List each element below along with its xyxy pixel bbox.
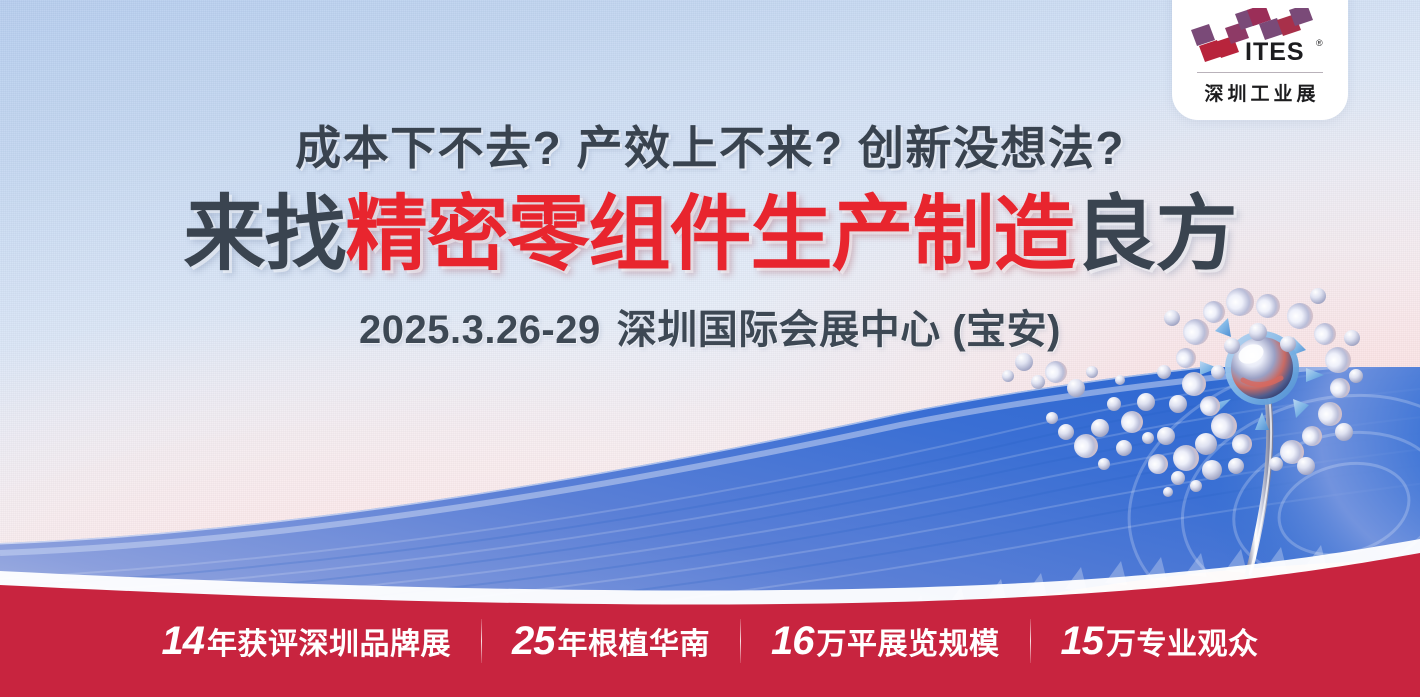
stat-item: 15 万专业观众 — [1031, 621, 1289, 661]
stat-label: 年根植华南 — [558, 630, 711, 660]
stats-list: 14 年获评深圳品牌展 25 年根植华南 16 万平展览规模 15 万专业观众 — [0, 585, 1420, 697]
logo-mark-svg: ITES ® — [1185, 8, 1335, 66]
stat-item: 14 年获评深圳品牌展 — [132, 621, 482, 661]
stats-band: 14 年获评深圳品牌展 25 年根植华南 16 万平展览规模 15 万专业观众 — [0, 537, 1420, 697]
event-date: 2025.3.26-29 — [359, 308, 601, 352]
logo-chinese-name: 深圳工业展 — [1200, 79, 1319, 106]
stat-number: 15 — [1061, 621, 1104, 661]
ites-logo-card[interactable]: ITES ® 深圳工业展 — [1172, 0, 1348, 120]
stat-number: 14 — [162, 621, 205, 661]
headline-tail: 良方 — [1075, 189, 1237, 280]
svg-text:ITES: ITES — [1245, 38, 1305, 66]
svg-text:®: ® — [1316, 38, 1323, 48]
stat-label: 万平展览规模 — [817, 630, 1000, 660]
stat-number: 16 — [771, 621, 814, 661]
ites-chevron-mark: ITES ® — [1185, 8, 1335, 66]
stat-label: 万专业观众 — [1106, 630, 1259, 660]
stat-label: 年获评深圳品牌展 — [207, 630, 451, 660]
promotional-banner: 成本下不去? 产效上不来? 创新没想法? 来找精密零组件生产制造良方 2025.… — [0, 0, 1420, 697]
headline-lead: 来找 — [183, 189, 345, 280]
kicker-text: 成本下不去? 产效上不来? 创新没想法? — [0, 112, 1420, 178]
drifting-seeds — [1002, 353, 1202, 497]
logo-divider — [1197, 72, 1323, 73]
stat-number: 25 — [512, 621, 555, 661]
event-venue: 深圳国际会展中心 (宝安) — [617, 308, 1061, 352]
stat-item: 16 万平展览规模 — [741, 621, 1030, 661]
page-title: 来找精密零组件生产制造良方 — [0, 192, 1420, 279]
stat-item: 25 年根植华南 — [482, 621, 740, 661]
headline-emphasis: 精密零组件生产制造 — [345, 189, 1074, 280]
